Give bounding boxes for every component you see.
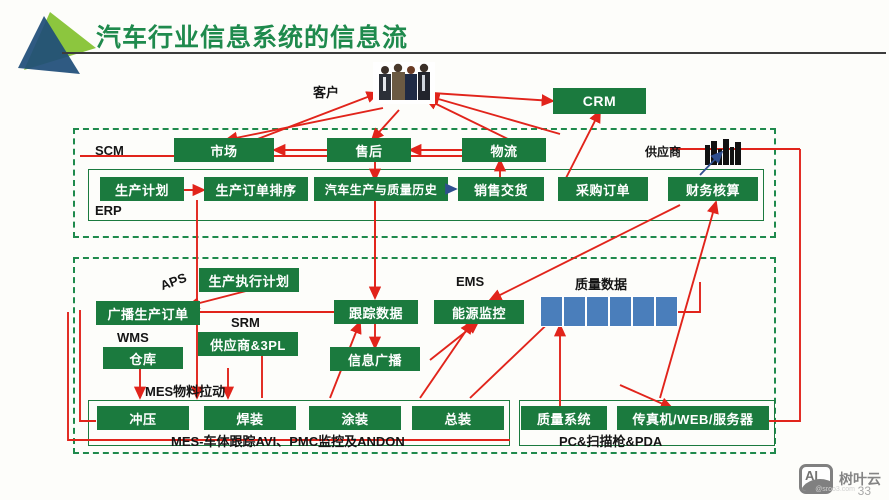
box-quality-system[interactable]: 质量系统 [521,406,607,430]
watermark-sub: @sroo3.com [815,486,855,493]
quality-data-cell [632,296,655,327]
box-market[interactable]: 市场 [174,138,274,162]
box-logistics[interactable]: 物流 [462,138,546,162]
box-supplier-3pl[interactable]: 供应商&3PL [198,332,298,356]
box-vehicle-quality-history[interactable]: 汽车生产与质量历史 [314,177,448,201]
box-purchase-order[interactable]: 采购订单 [558,177,648,201]
wms-label: WMS [117,330,149,345]
ems-label: EMS [456,274,484,289]
quality-data-cells [540,296,678,327]
quality-data-cell [586,296,609,327]
erp-label: ERP [95,203,122,218]
factory-icon [705,139,743,165]
quality-data-label: 质量数据 [575,274,627,293]
quality-data-cell [540,296,563,327]
box-broadcast-production-order[interactable]: 广播生产订单 [96,301,200,325]
customer-photo [373,62,435,104]
slide-canvas: 汽车行业信息系统的信息流 [0,0,889,500]
watermark: AI 树叶云 33 @sroo3.com [799,464,881,494]
box-stamping[interactable]: 冲压 [97,406,189,430]
title-divider [62,52,886,54]
quality-data-cell [563,296,586,327]
box-energy-monitor[interactable]: 能源监控 [434,300,524,324]
box-painting[interactable]: 涂装 [309,406,401,430]
triangle-logo [14,8,106,78]
quality-data-cell [609,296,632,327]
box-warehouse[interactable]: 仓库 [103,347,183,369]
box-production-exec-plan[interactable]: 生产执行计划 [199,268,299,292]
quality-data-cell [655,296,678,327]
box-fax-web-server[interactable]: 传真机/WEB/服务器 [617,406,769,430]
box-tracking-data[interactable]: 跟踪数据 [334,300,418,324]
watermark-number: 33 [858,484,871,498]
box-assembly[interactable]: 总装 [412,406,504,430]
box-after-sales[interactable]: 售后 [327,138,411,162]
srm-label: SRM [231,315,260,330]
scm-label: SCM [95,143,124,158]
box-production-plan[interactable]: 生产计划 [100,177,184,201]
box-production-order-seq[interactable]: 生产订单排序 [204,177,308,201]
pc-scanner-label: PC&扫描枪&PDA [559,431,662,450]
box-financial-accounting[interactable]: 财务核算 [668,177,758,201]
box-welding[interactable]: 焊装 [204,406,296,430]
box-info-broadcast[interactable]: 信息广播 [330,347,420,371]
page-title: 汽车行业信息系统的信息流 [96,18,408,54]
box-crm[interactable]: CRM [553,88,646,114]
mes-material-pull-label: MES物料拉动 [145,381,225,400]
supplier-label: 供应商 [645,143,681,160]
box-sales-delivery[interactable]: 销售交货 [458,177,544,201]
mes-bottom-label: MES-车体跟踪AVI、PMC监控及ANDON [171,431,405,450]
customer-label: 客户 [313,82,339,101]
